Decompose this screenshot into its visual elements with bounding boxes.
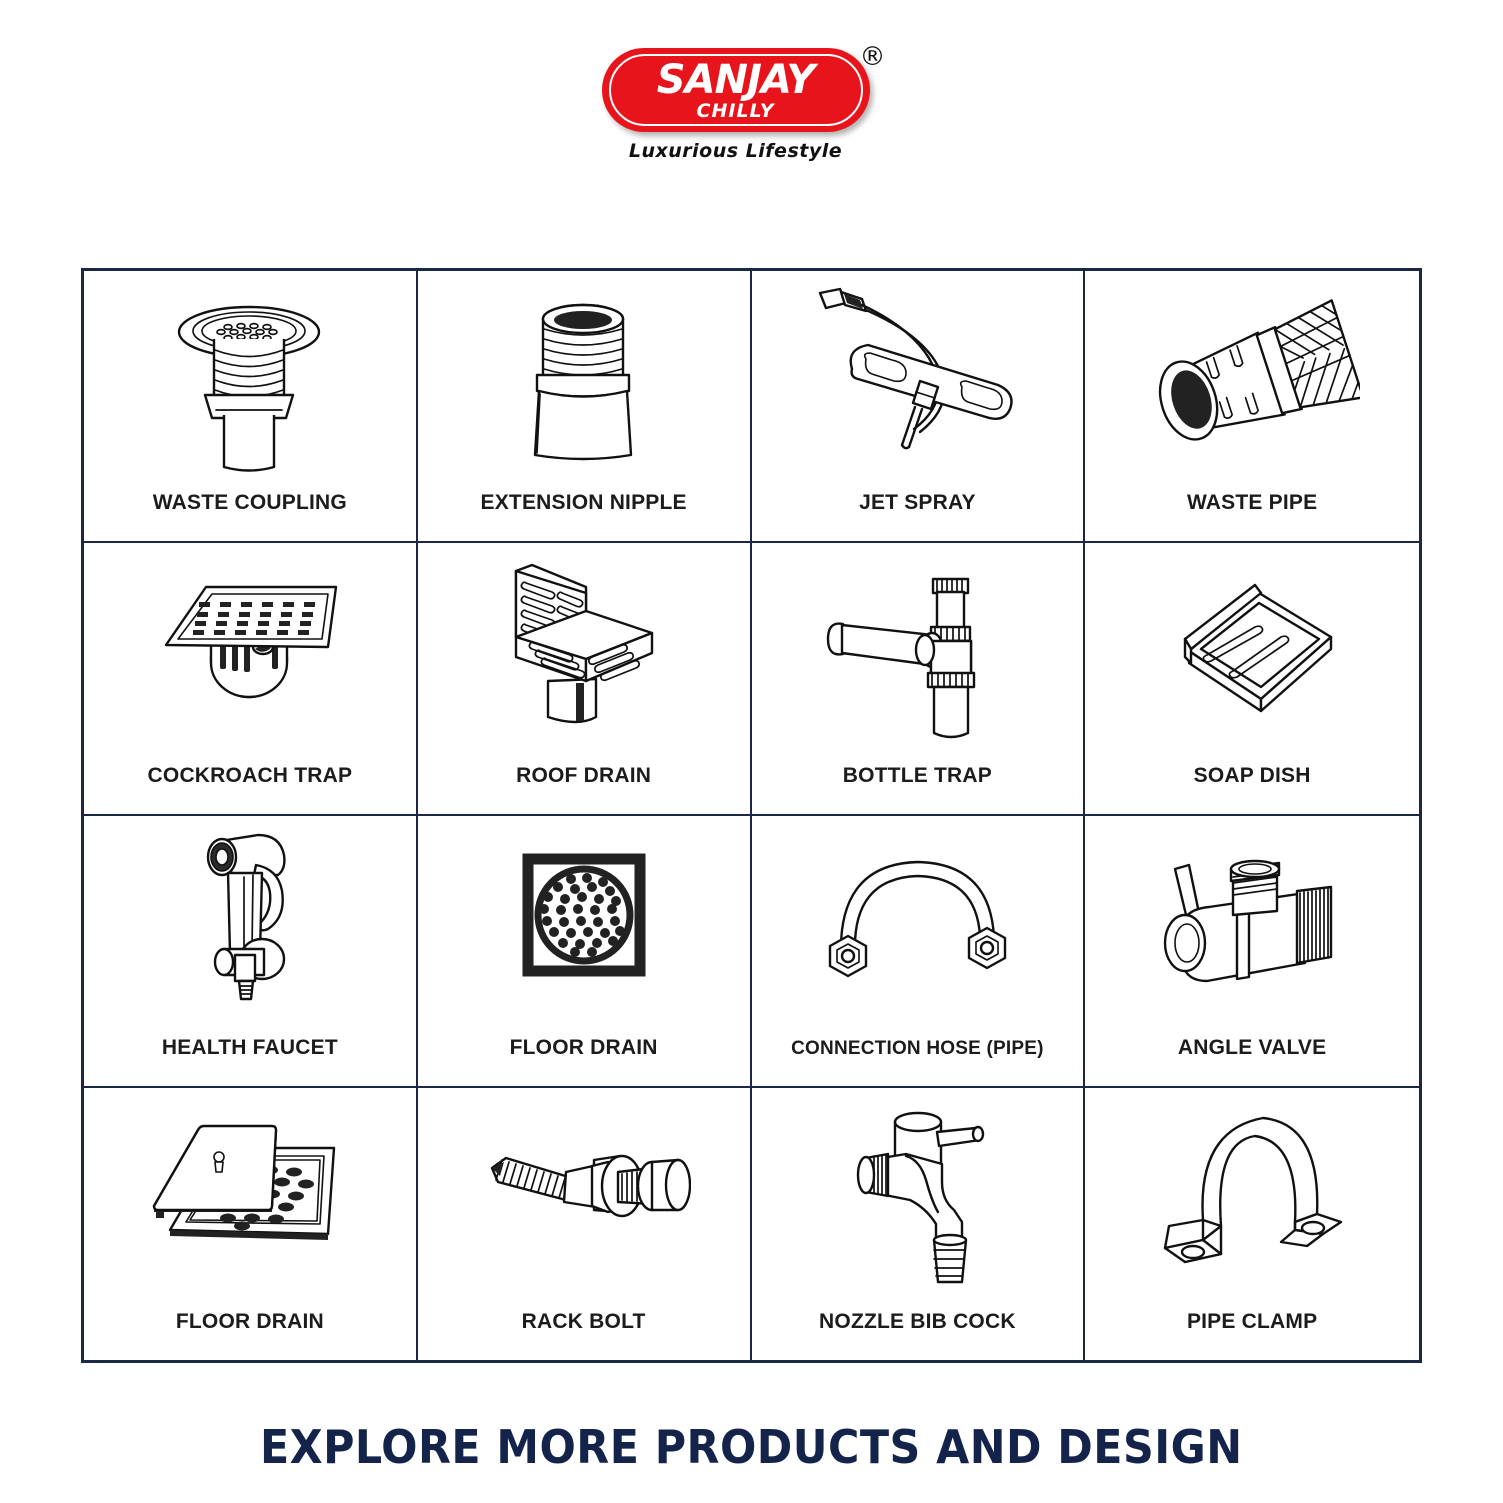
product-label: HEALTH FAUCET (162, 1036, 338, 1086)
roof-drain-icon (422, 549, 746, 763)
product-label: WASTE PIPE (1187, 491, 1317, 541)
product-label: ROOF DRAIN (516, 764, 651, 814)
product-label: NOZZLE BIB COCK (819, 1310, 1016, 1360)
product-label: JET SPRAY (859, 491, 976, 541)
floor-drain-square-icon (422, 822, 746, 1036)
cockroach-trap-icon (88, 549, 412, 763)
product-label: WASTE COUPLING (153, 491, 347, 541)
product-label: COCKROACH TRAP (148, 764, 353, 814)
product-cell-health-faucet[interactable]: HEALTH FAUCET (84, 816, 418, 1088)
bottle-trap-icon (756, 549, 1080, 763)
logo-brand-name: SANJAY (602, 60, 870, 100)
product-label: EXTENSION NIPPLE (481, 491, 687, 541)
product-cell-roof-drain[interactable]: ROOF DRAIN (418, 543, 752, 815)
health-faucet-icon (88, 822, 412, 1036)
product-cell-waste-pipe[interactable]: WASTE PIPE (1085, 271, 1419, 543)
product-cell-rack-bolt[interactable]: RACK BOLT (418, 1088, 752, 1360)
registered-trademark-icon: ® (860, 44, 886, 70)
rack-bolt-icon (422, 1094, 746, 1310)
footer-headline: EXPLORE MORE PRODUCTS AND DESIGN (260, 1420, 1242, 1474)
soap-dish-icon (1089, 549, 1415, 763)
waste-pipe-icon (1089, 277, 1415, 491)
product-label: FLOOR DRAIN (176, 1310, 324, 1360)
product-cell-floor-drain-cover[interactable]: FLOOR DRAIN (84, 1088, 418, 1360)
logo-tagline: Luxurious Lifestyle (602, 140, 870, 162)
angle-valve-icon (1089, 822, 1415, 1036)
floor-drain-cover-icon (88, 1094, 412, 1310)
product-cell-floor-drain-square[interactable]: FLOOR DRAIN (418, 816, 752, 1088)
product-label: PIPE CLAMP (1187, 1310, 1317, 1360)
product-label: BOTTLE TRAP (843, 764, 992, 814)
product-cell-angle-valve[interactable]: ANGLE VALVE (1085, 816, 1419, 1088)
product-cell-jet-spray[interactable]: JET SPRAY (752, 271, 1086, 543)
product-label: FLOOR DRAIN (510, 1036, 658, 1086)
product-cell-pipe-clamp[interactable]: PIPE CLAMP (1085, 1088, 1419, 1360)
product-cell-connection-hose[interactable]: CONNECTION HOSE (PIPE) (752, 816, 1086, 1088)
pipe-clamp-icon (1089, 1094, 1415, 1310)
page-header: SANJAY CHILLY ® Luxurious Lifestyle (0, 0, 1503, 200)
footer-banner: EXPLORE MORE PRODUCTS AND DESIGN (0, 1420, 1503, 1474)
product-cell-soap-dish[interactable]: SOAP DISH (1085, 543, 1419, 815)
waste-coupling-icon (88, 277, 412, 491)
product-label: SOAP DISH (1194, 764, 1311, 814)
product-cell-extension-nipple[interactable]: EXTENSION NIPPLE (418, 271, 752, 543)
product-grid: WASTE COUPLING EXTENSION NIPPLE (81, 268, 1422, 1363)
product-label: RACK BOLT (522, 1310, 646, 1360)
product-cell-nozzle-bib-cock[interactable]: NOZZLE BIB COCK (752, 1088, 1086, 1360)
connection-hose-icon (756, 822, 1080, 1038)
nozzle-bib-cock-icon (756, 1094, 1080, 1310)
product-cell-cockroach-trap[interactable]: COCKROACH TRAP (84, 543, 418, 815)
product-label: CONNECTION HOSE (PIPE) (791, 1038, 1043, 1086)
jet-spray-icon (756, 277, 1080, 491)
brand-logo: SANJAY CHILLY ® Luxurious Lifestyle (602, 48, 902, 178)
product-label: ANGLE VALVE (1178, 1036, 1326, 1086)
product-cell-bottle-trap[interactable]: BOTTLE TRAP (752, 543, 1086, 815)
product-cell-waste-coupling[interactable]: WASTE COUPLING (84, 271, 418, 543)
logo-brand-sub: CHILLY (602, 102, 870, 121)
extension-nipple-icon (422, 277, 746, 491)
